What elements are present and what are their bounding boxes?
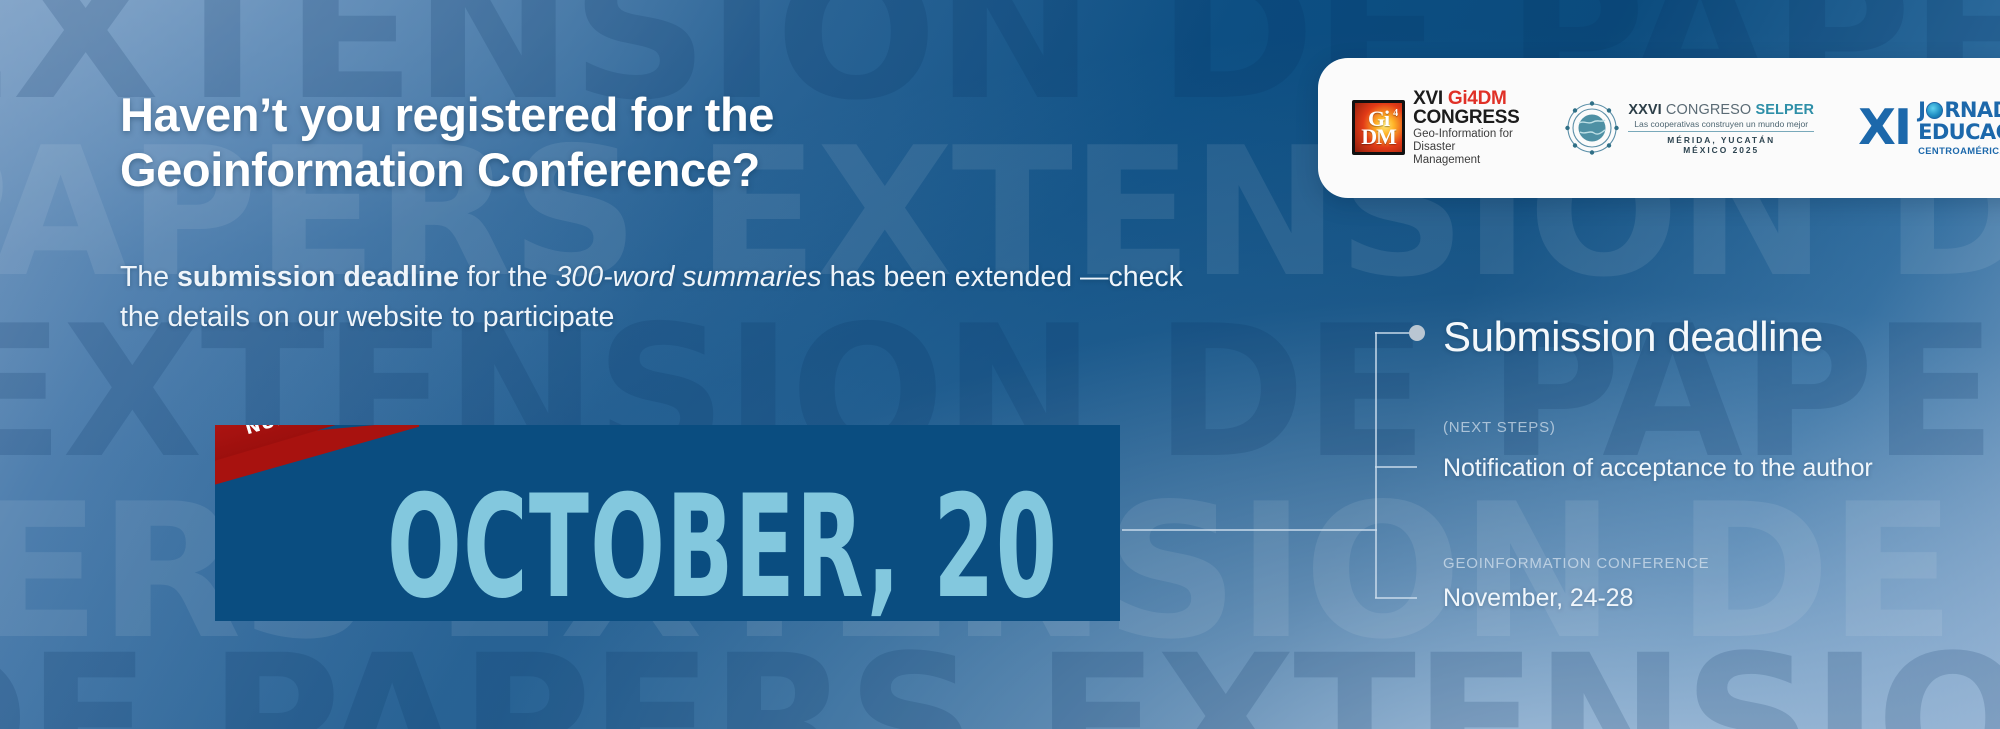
- headline-line-2: Geoinformation Conference?: [120, 143, 1220, 198]
- logo-jornadas: XI JRNADAS DE EDUCACIÓN CENTROAMÉRICA Y …: [1858, 100, 2000, 155]
- gi4dm-row-3: Geo-Information for Disaster Management: [1413, 128, 1521, 167]
- gi4dm-mark-line2: DM: [1361, 128, 1396, 146]
- gi4dm-row1-prefix: XVI: [1413, 88, 1448, 109]
- logo-gi4dm: Gi 4 DM XVI Gi4DM CONGRESS Geo-Informati…: [1352, 89, 1521, 167]
- jornadas-numeral: XI: [1858, 106, 1910, 150]
- subtitle-part-2: for the: [459, 261, 556, 293]
- selper-row-2: Las cooperativas construyen un mundo mej…: [1628, 119, 1814, 132]
- timeline-spine: [1375, 332, 1377, 598]
- sponsor-logo-card: Gi 4 DM XVI Gi4DM CONGRESS Geo-Informati…: [1318, 58, 2000, 198]
- selper-row-4: MÉXICO 2025: [1628, 145, 1814, 155]
- jornadas-row-1: JRNADAS DE: [1918, 100, 2000, 121]
- selper-row1-mid: CONGRESO: [1666, 102, 1756, 118]
- subtitle-bold-deadline: submission deadline: [177, 261, 459, 293]
- deadline-date: OCTOBER, 20: [387, 477, 948, 619]
- timeline-item-2-text: November, 24-28: [1443, 583, 1633, 614]
- jornadas-row1-b: RNADAS DE: [1944, 98, 2000, 122]
- jornadas-row-3: CENTROAMÉRICA Y EL CARIBE: [1918, 146, 2000, 156]
- subtitle: The submission deadline for the 300-word…: [120, 257, 1200, 338]
- timeline-item-1-caption: (NEXT STEPS): [1443, 419, 1556, 436]
- timeline-title: Submission deadline: [1443, 313, 1823, 361]
- timeline-connector-line: [1122, 529, 1377, 531]
- gi4dm-row-1: XVI Gi4DM: [1413, 89, 1521, 108]
- selper-row1-prefix: XXVI: [1628, 102, 1666, 118]
- new-date-panel: NUEVA FECHA OCTOBER, 20: [215, 425, 1120, 621]
- selper-row1-accent: SELPER: [1755, 102, 1814, 118]
- subtitle-italic-summaries: 300-word summaries: [556, 261, 822, 293]
- timeline-branch-3: [1375, 597, 1417, 599]
- gi4dm-row1-accent: Gi4DM: [1448, 88, 1507, 109]
- logo-selper: XXVI CONGRESO SELPER Las cooperativas co…: [1565, 101, 1814, 155]
- selper-row-3: MÉRIDA, YUCATÁN: [1628, 135, 1814, 145]
- timeline-branch-2: [1375, 466, 1417, 468]
- gi4dm-mark-icon: Gi 4 DM: [1352, 100, 1405, 155]
- gi4dm-row3-line1: Geo-Information for: [1413, 128, 1521, 141]
- jornadas-row-2: EDUCACIÓN: [1918, 122, 2000, 143]
- subtitle-part-1: The: [120, 261, 177, 293]
- headline-line-1: Haven’t you registered for the: [120, 88, 774, 141]
- gi4dm-row-2: CONGRESS: [1413, 108, 1521, 127]
- timeline-dot-icon: [1409, 325, 1425, 341]
- globe-icon: [1565, 101, 1619, 155]
- headline: Haven’t you registered for the Geoinform…: [120, 88, 1220, 198]
- gi4dm-row3-line2: Disaster Management: [1413, 141, 1521, 167]
- jornadas-row1-a: J: [1918, 98, 1925, 122]
- timeline-item-2-caption: GEOINFORMATION CONFERENCE: [1443, 555, 1709, 572]
- gi4dm-mark-superscript: 4: [1393, 110, 1397, 118]
- jornadas-globe-icon: [1926, 102, 1943, 119]
- promo-banner: EXTENSION DE PAPERS E E PAPERS EXTENSION…: [0, 0, 2000, 729]
- watermark-row-5: DE PAPERS EXTENSION DE PAPERS: [0, 648, 2000, 729]
- timeline-item-1-text: Notification of acceptance to the author: [1443, 453, 1903, 484]
- selper-row-1: XXVI CONGRESO SELPER: [1628, 102, 1814, 118]
